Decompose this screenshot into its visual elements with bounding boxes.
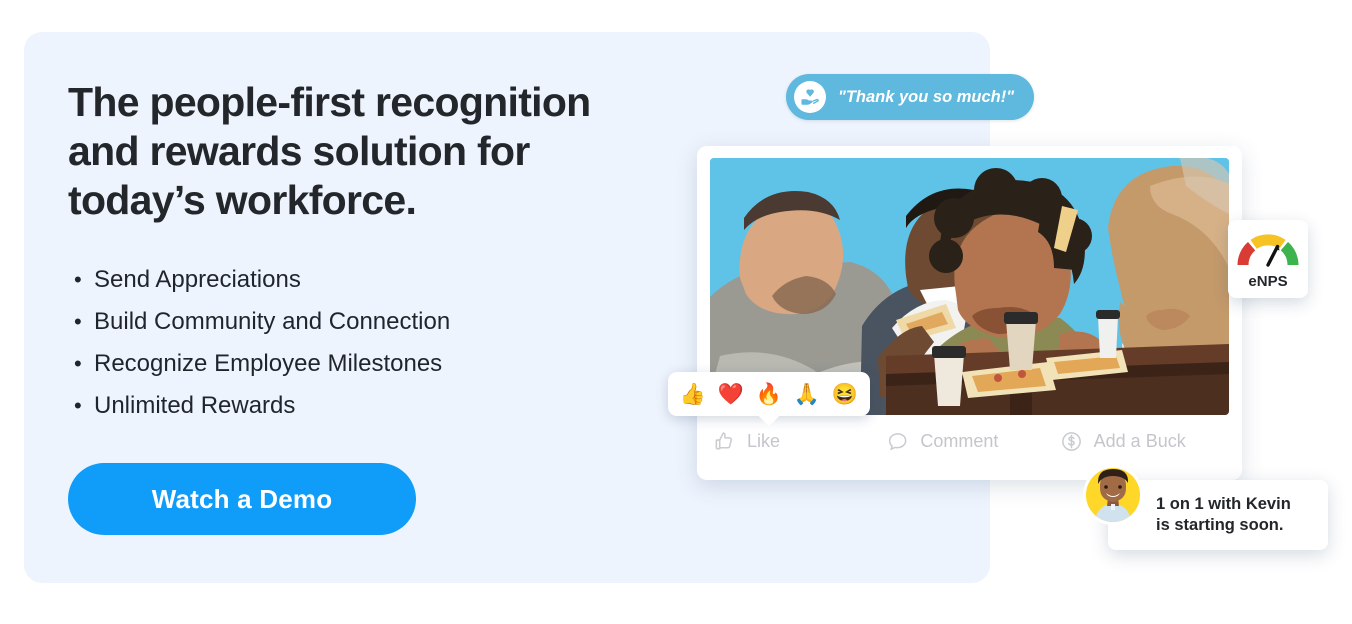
- meeting-reminder-line2: is starting soon.: [1156, 515, 1291, 536]
- list-item-label: Build Community and Connection: [94, 308, 450, 335]
- page-title: The people-first recognition and rewards…: [68, 78, 628, 225]
- chat-bubble-message: "Thank you so much!": [838, 88, 1014, 107]
- hand-holding-heart-icon: [794, 81, 826, 113]
- enps-label: eNPS: [1248, 273, 1287, 290]
- watch-a-demo-button[interactable]: Watch a Demo: [68, 463, 416, 535]
- heart-reaction[interactable]: ❤️: [718, 384, 744, 405]
- comment-label: Comment: [920, 431, 998, 452]
- list-item: • Send Appreciations: [68, 259, 628, 301]
- speech-bubble-outline-icon: [886, 430, 909, 453]
- list-item-label: Send Appreciations: [94, 266, 301, 293]
- dollar-circle-icon: [1060, 430, 1083, 453]
- thank-you-chat-bubble[interactable]: "Thank you so much!": [786, 74, 1034, 120]
- meeting-reminder-line1: 1 on 1 with Kevin: [1156, 494, 1291, 515]
- thumbs-up-outline-icon: [713, 430, 736, 453]
- fire-reaction[interactable]: 🔥: [756, 384, 782, 405]
- comment-action[interactable]: Comment: [886, 430, 1059, 453]
- add-a-buck-action[interactable]: Add a Buck: [1060, 430, 1233, 453]
- list-item-label: Unlimited Rewards: [94, 392, 295, 419]
- laughing-reaction[interactable]: 😆: [832, 384, 858, 405]
- bullet-marker-icon: •: [74, 385, 82, 427]
- reaction-picker[interactable]: 👍 ❤️ 🔥 🙏 😆: [668, 372, 870, 416]
- promo-banner: The people-first recognition and rewards…: [0, 0, 1352, 624]
- list-item: • Unlimited Rewards: [68, 385, 628, 427]
- list-item: • Build Community and Connection: [68, 301, 628, 343]
- list-item-label: Recognize Employee Milestones: [94, 350, 442, 377]
- feature-list: • Send Appreciations • Build Community a…: [68, 259, 628, 427]
- bullet-marker-icon: •: [74, 259, 82, 301]
- post-action-bar: Like Comment Add a Buck: [713, 430, 1233, 453]
- bullet-marker-icon: •: [74, 343, 82, 385]
- thumbs-up-reaction[interactable]: 👍: [680, 384, 706, 405]
- add-a-buck-label: Add a Buck: [1094, 431, 1186, 452]
- avatar: [1086, 468, 1140, 522]
- gauge-icon: [1237, 229, 1299, 272]
- list-item: • Recognize Employee Milestones: [68, 343, 628, 385]
- like-action[interactable]: Like: [713, 430, 886, 453]
- bullet-marker-icon: •: [74, 301, 82, 343]
- hero-copy: The people-first recognition and rewards…: [68, 78, 628, 535]
- meeting-reminder-text: 1 on 1 with Kevin is starting soon.: [1156, 494, 1291, 536]
- meeting-reminder-toast[interactable]: 1 on 1 with Kevin is starting soon.: [1108, 480, 1328, 550]
- enps-widget[interactable]: eNPS: [1228, 220, 1308, 298]
- praise-hands-reaction[interactable]: 🙏: [794, 384, 820, 405]
- like-label: Like: [747, 431, 780, 452]
